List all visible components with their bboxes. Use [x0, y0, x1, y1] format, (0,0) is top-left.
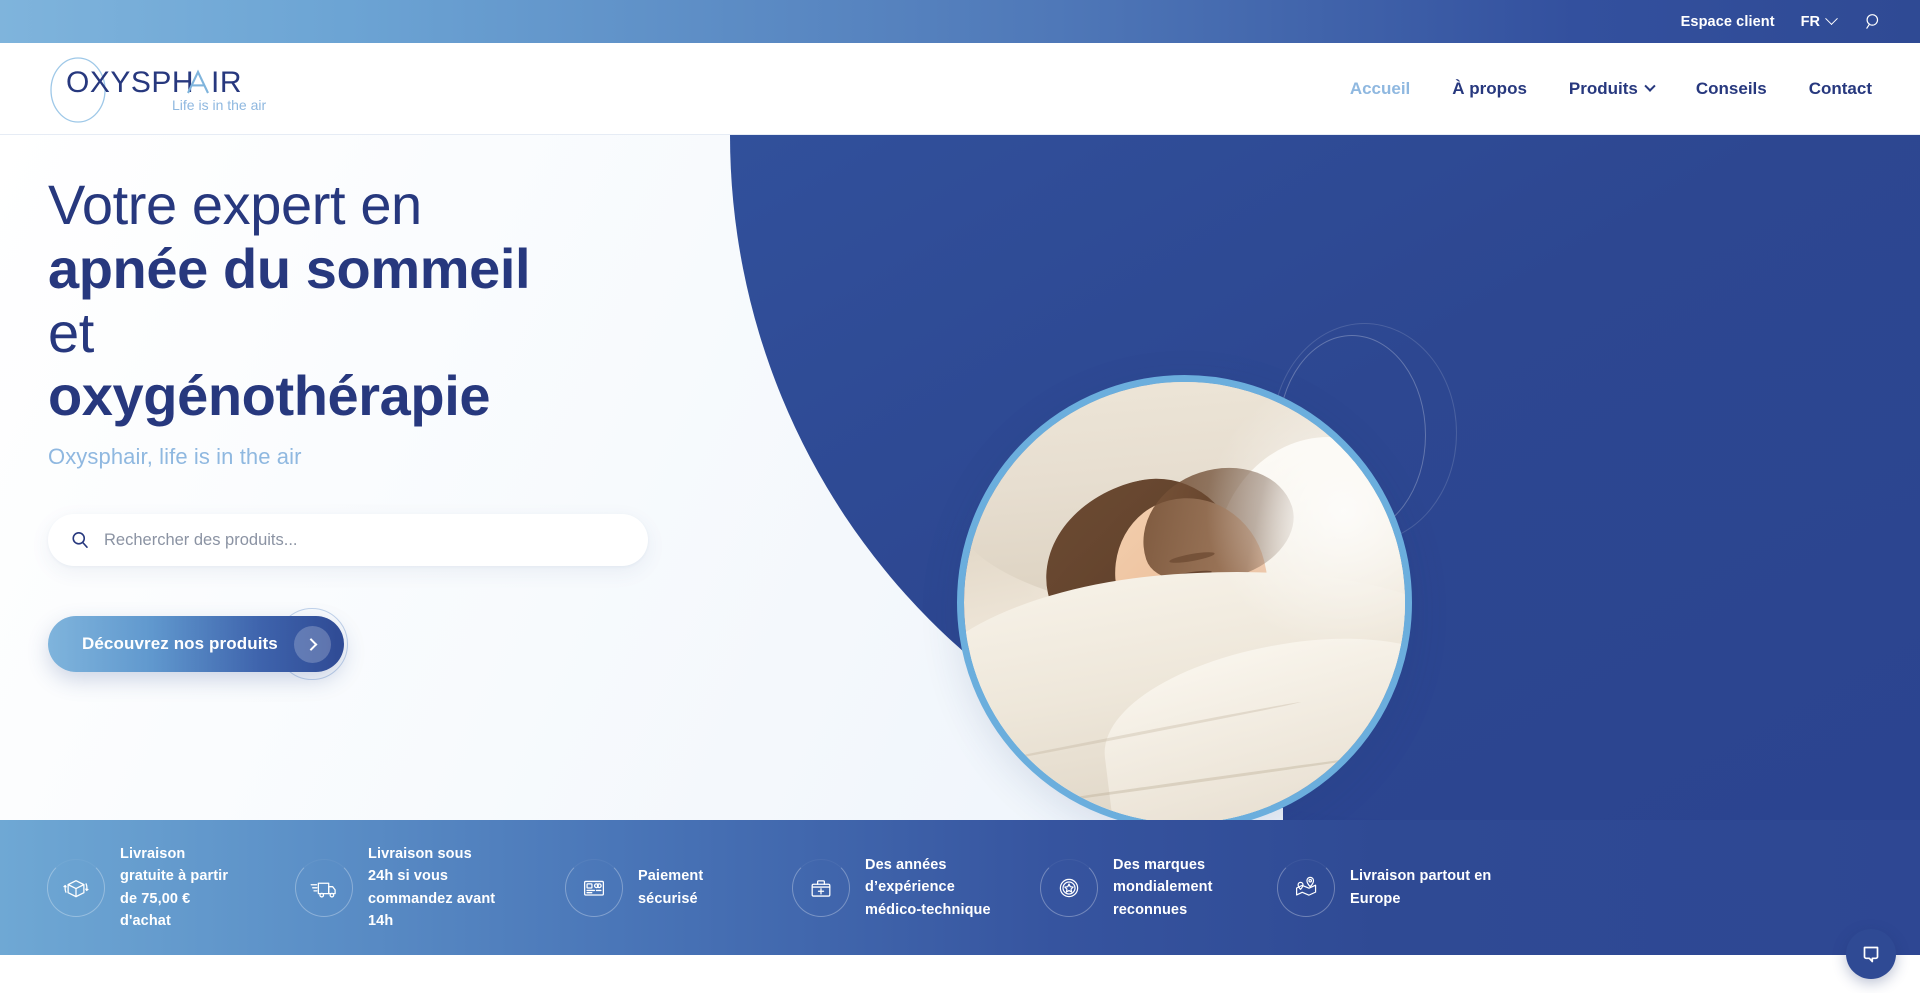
top-utility-bar: Espace client FR: [0, 0, 1920, 43]
search-icon: [1864, 12, 1883, 31]
nav-item-a-propos-label: À propos: [1452, 79, 1527, 99]
top-utility-bar-items: Espace client FR: [1681, 11, 1884, 33]
hero-title: Votre expert en apnée du sommeil et oxyg…: [48, 173, 900, 428]
feature-item-europe-delivery-label: Livraison partout en Europe: [1350, 865, 1498, 910]
hero-section: Votre expert en apnée du sommeil et oxyg…: [0, 135, 1920, 820]
nav-item-contact[interactable]: Contact: [1809, 79, 1872, 99]
feature-item-free-shipping-label: Livraison gratuite à partir de 75,00 € d…: [120, 843, 238, 933]
page-root: Espace client FR OXYSPH IR Life is i: [0, 0, 1920, 993]
svg-text:IR: IR: [211, 66, 242, 99]
hero-content: Votre expert en apnée du sommeil et oxyg…: [0, 135, 900, 820]
feature-item-experience-label: Des années d’expérience médico-technique: [865, 854, 993, 921]
brand-logo-mark: OXYSPH IR Life is in the air: [48, 52, 308, 126]
package-box-icon: [48, 860, 104, 916]
hero-title-line-2: apnée du sommeil: [48, 237, 530, 300]
topbar-search-button[interactable]: [1862, 11, 1884, 33]
hero-photo-image: [964, 382, 1405, 820]
search-icon: [70, 530, 90, 550]
language-switcher-label: FR: [1801, 14, 1820, 30]
nav-item-accueil-label: Accueil: [1350, 79, 1410, 99]
feature-item-experience: Des années d’expérience médico-technique: [793, 854, 993, 921]
nav-item-accueil[interactable]: Accueil: [1350, 79, 1410, 99]
svg-text:OXYSPH: OXYSPH: [66, 66, 194, 99]
medical-kit-icon: [793, 860, 849, 916]
discover-products-button[interactable]: Découvrez nos produits: [48, 616, 344, 672]
site-header: OXYSPH IR Life is in the air OXYSPHAIR L…: [0, 43, 1920, 135]
chat-widget-button[interactable]: [1846, 929, 1896, 979]
nav-item-contact-label: Contact: [1809, 79, 1872, 99]
delivery-truck-icon: [296, 860, 352, 916]
nav-item-produits[interactable]: Produits: [1569, 79, 1654, 99]
chevron-down-icon: [1644, 81, 1655, 92]
feature-item-fast-delivery-label: Livraison sous 24h si vous commandez ava…: [368, 843, 496, 933]
hero-subtitle: Oxysphair, life is in the air: [48, 444, 900, 470]
hero-title-line-4: oxygénothérapie: [48, 364, 490, 427]
discover-products-button-label: Découvrez nos produits: [82, 634, 278, 654]
hero-title-line-1: Votre expert en: [48, 173, 422, 236]
feature-item-secure-payment-label: Paiement sécurisé: [638, 865, 721, 910]
feature-item-brands-label: Des marques mondialement reconnues: [1113, 854, 1226, 921]
chevron-right-icon: [294, 626, 331, 663]
espace-client-link[interactable]: Espace client: [1681, 14, 1775, 30]
chat-bubble-icon: [1859, 942, 1883, 966]
search-input[interactable]: [104, 531, 626, 550]
feature-highlights-bar: Livraison gratuite à partir de 75,00 € d…: [0, 820, 1920, 955]
feature-item-brands: Des marques mondialement reconnues: [1041, 854, 1226, 921]
nav-item-a-propos[interactable]: À propos: [1452, 79, 1527, 99]
nav-item-conseils[interactable]: Conseils: [1696, 79, 1767, 99]
brand-logo[interactable]: OXYSPH IR Life is in the air OXYSPHAIR L…: [48, 52, 308, 126]
feature-item-fast-delivery: Livraison sous 24h si vous commandez ava…: [296, 843, 496, 933]
feature-item-free-shipping: Livraison gratuite à partir de 75,00 € d…: [48, 843, 238, 933]
secure-payment-card-icon: [566, 860, 622, 916]
hero-cta-zone: Découvrez nos produits: [48, 608, 378, 680]
nav-item-conseils-label: Conseils: [1696, 79, 1767, 99]
product-search-bar[interactable]: [48, 514, 648, 566]
main-navigation: Accueil À propos Produits Conseils Conta…: [1350, 43, 1872, 135]
language-switcher[interactable]: FR: [1801, 14, 1836, 30]
hero-title-line-3: et: [48, 301, 94, 364]
feature-item-secure-payment: Paiement sécurisé: [566, 860, 721, 916]
chevron-down-icon: [1825, 12, 1838, 25]
feature-item-europe-delivery: Livraison partout en Europe: [1278, 860, 1498, 916]
hero-photo-circle: [957, 375, 1412, 820]
svg-text:Life is in the air: Life is in the air: [172, 97, 266, 113]
map-location-pin-icon: [1278, 860, 1334, 916]
award-badge-star-icon: [1041, 860, 1097, 916]
nav-item-produits-label: Produits: [1569, 79, 1638, 99]
